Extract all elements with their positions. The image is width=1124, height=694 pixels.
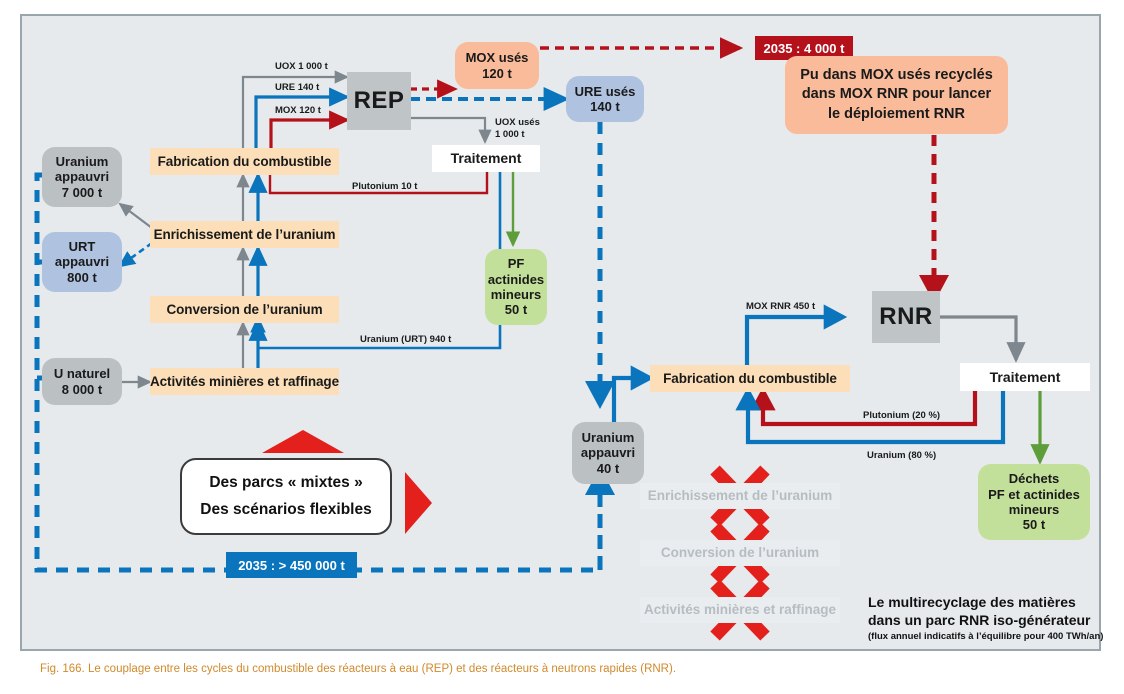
process-box-fabrication-rep[interactable]: Fabrication du combustible [150, 148, 339, 175]
stock-line-2: appauvri [55, 169, 109, 184]
edge-label-text: Plutonium (20 %) [863, 410, 940, 421]
rnr-reactor-box[interactable]: RNR [872, 291, 940, 343]
stock-line-1: URT [69, 239, 96, 254]
output-dechets-pf-actinides-50t[interactable]: Déchets PF et actinides mineurs 50 t [978, 464, 1090, 540]
figure-caption: Fig. 166. Le couplage entre les cycles d… [40, 663, 676, 675]
output-line-2: PF et actinides [988, 487, 1080, 502]
stock-line-1: Uranium [56, 154, 109, 169]
eliminated-step-label: Activités minières et raffinage [644, 602, 836, 618]
edge-label-uox-used: UOX usés 1 000 t [495, 117, 540, 141]
edge-label-uranium-80pct: Uranium (80 %) [867, 450, 936, 462]
stock-line-3: 7 000 t [62, 185, 102, 200]
output-line-2: actinides [488, 272, 544, 287]
eliminated-step-conversion: Conversion de l’uranium [640, 540, 840, 566]
eliminated-step-enrichissement: Enrichissement de l’uranium [640, 483, 840, 509]
output-line-1: MOX usés [466, 50, 529, 65]
traitement-box-rnr[interactable]: Traitement [960, 363, 1090, 391]
output-ure-uses-140t[interactable]: URE usés 140 t [566, 76, 644, 122]
tag-label: 2035 : 4 000 t [764, 41, 845, 56]
output-mox-uses-120t[interactable]: MOX usés 120 t [455, 42, 539, 89]
process-box-conversion-rep[interactable]: Conversion de l’uranium [150, 296, 339, 323]
stock-line-2: appauvri [55, 254, 109, 269]
output-line-2: 140 t [590, 99, 620, 114]
output-pf-actinides-mineurs-50t[interactable]: PF actinides mineurs 50 t [485, 249, 547, 325]
callout-line-2: dans MOX RNR pour lancer [802, 85, 991, 104]
callout-line-2: Des scénarios flexibles [200, 501, 371, 519]
eliminated-step-label: Enrichissement de l’uranium [648, 488, 833, 504]
callout-line-1: Des parcs « mixtes » [209, 474, 362, 492]
process-label: Activités minières et raffinage [150, 374, 339, 390]
edge-label-text-line1: UOX usés [495, 117, 540, 129]
figure-root: REP Fabrication du combustible Enrichiss… [0, 0, 1124, 694]
output-line-1: Déchets [1009, 471, 1060, 486]
output-line-2: 120 t [482, 66, 512, 81]
edge-label-text: Plutonium 10 t [352, 181, 417, 192]
output-line-4: 50 t [505, 302, 527, 317]
stock-uranium-appauvri-40t[interactable]: Uranium appauvri 40 t [572, 422, 644, 484]
rnr-note-line-2: dans un parc RNR iso-générateur [868, 612, 1091, 630]
traitement-box-rep[interactable]: Traitement [432, 145, 540, 172]
process-label: Enrichissement de l’uranium [154, 227, 336, 243]
stock-line-3: 800 t [67, 270, 97, 285]
eliminated-step-label: Conversion de l’uranium [661, 545, 819, 561]
edge-label-text: Uranium (URT) 940 t [360, 334, 451, 345]
rnr-note: Le multirecyclage des matières dans un p… [868, 594, 1091, 629]
process-label: Fabrication du combustible [158, 154, 332, 170]
eliminated-step-minier: Activités minières et raffinage [640, 597, 840, 623]
stock-urt-appauvri-800t[interactable]: URT appauvri 800 t [42, 232, 122, 292]
stock-line-2: 8 000 t [62, 382, 102, 397]
edge-label-mox-in: MOX 120 t [275, 105, 321, 117]
traitement-label: Traitement [990, 369, 1061, 386]
process-box-minier-rep[interactable]: Activités minières et raffinage [150, 368, 339, 395]
rnr-reactor-label: RNR [879, 303, 933, 331]
output-line-3: mineurs [1009, 502, 1060, 517]
output-line-4: 50 t [1023, 517, 1045, 532]
edge-label-uox-in: UOX 1 000 t [275, 61, 328, 73]
callout-flexible-scenarios[interactable]: Des parcs « mixtes » Des scénarios flexi… [180, 458, 392, 535]
edge-label-ure-in: URE 140 t [275, 82, 319, 94]
rep-reactor-box[interactable]: REP [347, 72, 411, 130]
rep-reactor-label: REP [354, 87, 405, 115]
process-box-fabrication-rnr[interactable]: Fabrication du combustible [650, 365, 850, 392]
stock-u-naturel-8000t[interactable]: U naturel 8 000 t [42, 358, 122, 405]
stock-line-1: Uranium [582, 430, 635, 445]
rnr-note-sub-text: (flux annuel indicatifs à l’équilibre po… [868, 631, 1103, 642]
edge-label-text: UOX 1 000 t [275, 61, 328, 72]
edge-label-mox-rnr-450t: MOX RNR 450 t [746, 301, 815, 313]
stock-line-1: U naturel [54, 366, 110, 381]
process-label: Conversion de l’uranium [167, 302, 323, 318]
tag-2035-450000t[interactable]: 2035 : > 450 000 t [226, 552, 357, 578]
edge-label-plutonium-20pct: Plutonium (20 %) [863, 410, 940, 422]
stock-uranium-appauvri-7000t[interactable]: Uranium appauvri 7 000 t [42, 147, 122, 207]
rnr-note-sub: (flux annuel indicatifs à l’équilibre po… [868, 631, 1103, 642]
rnr-note-line-1: Le multirecyclage des matières [868, 594, 1091, 612]
output-line-1: PF [508, 256, 525, 271]
edge-label-text: MOX RNR 450 t [746, 301, 815, 312]
callout-pu-recycle[interactable]: Pu dans MOX usés recyclés dans MOX RNR p… [785, 56, 1008, 134]
stock-line-2: appauvri [581, 445, 635, 460]
callout-line-1: Pu dans MOX usés recyclés [800, 66, 993, 85]
callout-line-3: le déploiement RNR [828, 105, 965, 124]
output-line-1: URE usés [575, 84, 636, 99]
edge-label-text: MOX 120 t [275, 105, 321, 116]
edge-label-plutonium-10t: Plutonium 10 t [352, 181, 417, 193]
edge-label-text: URE 140 t [275, 82, 319, 93]
process-box-enrichissement-rep[interactable]: Enrichissement de l’uranium [150, 221, 339, 248]
process-label: Fabrication du combustible [663, 371, 837, 387]
edge-label-text: Uranium (80 %) [867, 450, 936, 461]
figure-caption-text: Fig. 166. Le couplage entre les cycles d… [40, 663, 676, 675]
edge-label-uranium-urt-940t: Uranium (URT) 940 t [360, 334, 451, 346]
stock-line-3: 40 t [597, 461, 619, 476]
output-line-3: mineurs [491, 287, 542, 302]
edge-label-text-line2: 1 000 t [495, 129, 540, 141]
traitement-label: Traitement [451, 150, 522, 167]
tag-label: 2035 : > 450 000 t [238, 558, 345, 573]
